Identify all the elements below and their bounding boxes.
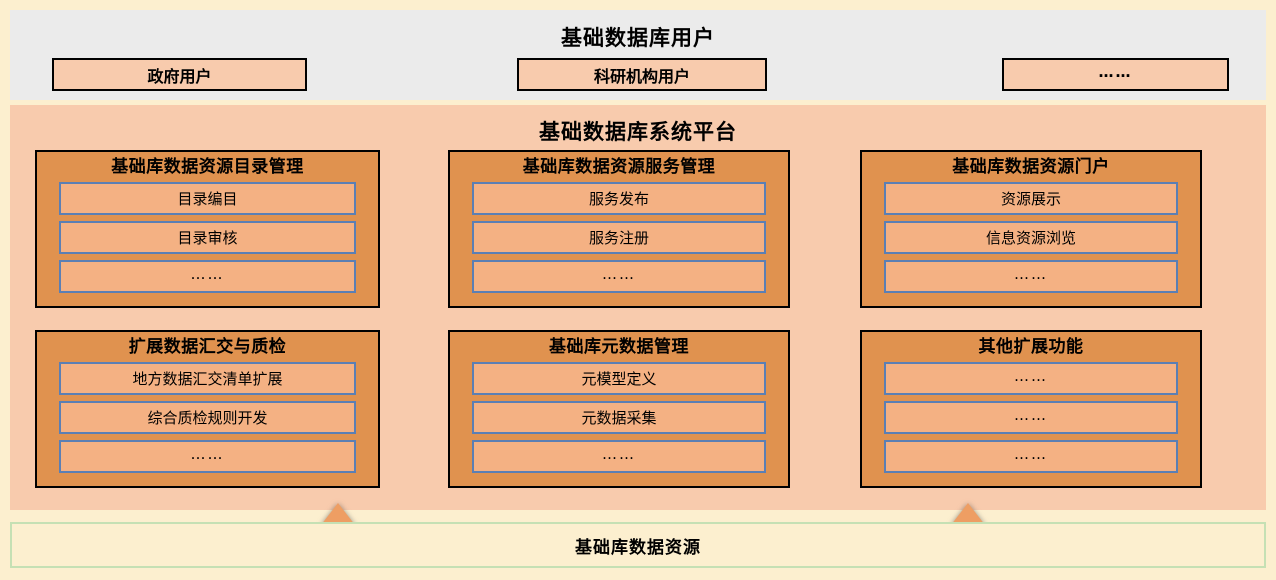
module-item[interactable]: …… (884, 401, 1178, 434)
module-title: 基础库数据资源服务管理 (450, 152, 788, 182)
ellipsis-label: …… (602, 267, 636, 282)
module-item-label: 元模型定义 (581, 368, 656, 389)
platform-layer: 基础数据库系统平台 基础库数据资源目录管理 目录编目 目录审核 …… (10, 105, 1266, 510)
module-item[interactable]: …… (884, 260, 1178, 293)
module-item-list: 目录编目 目录审核 …… (37, 182, 378, 293)
module-item-list: 资源展示 信息资源浏览 …… (862, 182, 1200, 293)
module-item-list: …… …… …… (862, 362, 1200, 473)
module-other-extensions[interactable]: 其他扩展功能 …… …… …… (860, 330, 1202, 488)
module-item[interactable]: 元模型定义 (472, 362, 766, 395)
module-title: 其他扩展功能 (862, 332, 1200, 362)
module-item[interactable]: …… (472, 260, 766, 293)
module-item-list: 元模型定义 元数据采集 …… (450, 362, 788, 473)
module-item-label: 元数据采集 (581, 407, 656, 428)
module-item[interactable]: 信息资源浏览 (884, 221, 1178, 254)
platform-layer-title: 基础数据库系统平台 (10, 116, 1266, 146)
module-title: 扩展数据汇交与质检 (37, 332, 378, 362)
ellipsis-label: …… (1014, 267, 1048, 282)
module-catalog-management[interactable]: 基础库数据资源目录管理 目录编目 目录审核 …… (35, 150, 380, 308)
module-item[interactable]: 地方数据汇交清单扩展 (59, 362, 356, 395)
module-item-label: 资源展示 (1001, 188, 1061, 209)
module-data-submission-quality[interactable]: 扩展数据汇交与质检 地方数据汇交清单扩展 综合质检规则开发 …… (35, 330, 380, 488)
user-box-government[interactable]: 政府用户 (52, 58, 307, 91)
module-item[interactable]: …… (472, 440, 766, 473)
user-box-research-institution[interactable]: 科研机构用户 (517, 58, 767, 91)
ellipsis-label: …… (1014, 369, 1048, 384)
module-item[interactable]: 目录编目 (59, 182, 356, 215)
module-item[interactable]: 服务发布 (472, 182, 766, 215)
module-item-label: 信息资源浏览 (986, 227, 1076, 248)
ellipsis-label: …… (1099, 65, 1133, 80)
module-grid: 基础库数据资源目录管理 目录编目 目录审核 …… 基础库数据资源服务管理 (10, 150, 1266, 510)
module-item[interactable]: 综合质检规则开发 (59, 401, 356, 434)
module-item-list: 服务发布 服务注册 …… (450, 182, 788, 293)
module-resource-portal[interactable]: 基础库数据资源门户 资源展示 信息资源浏览 …… (860, 150, 1202, 308)
users-layer-title: 基础数据库用户 (10, 22, 1266, 52)
module-item-list: 地方数据汇交清单扩展 综合质检规则开发 …… (37, 362, 378, 473)
module-item[interactable]: 资源展示 (884, 182, 1178, 215)
user-box-label: 科研机构用户 (594, 63, 690, 87)
module-service-management[interactable]: 基础库数据资源服务管理 服务发布 服务注册 …… (448, 150, 790, 308)
ellipsis-label: …… (1014, 408, 1048, 423)
module-title: 基础库数据资源门户 (862, 152, 1200, 182)
module-item-label: 综合质检规则开发 (147, 407, 267, 428)
resources-layer: 基础库数据资源 (10, 522, 1266, 568)
module-item[interactable]: …… (884, 440, 1178, 473)
module-item[interactable]: …… (59, 260, 356, 293)
module-item[interactable]: 元数据采集 (472, 401, 766, 434)
module-item-label: 目录编目 (177, 188, 237, 209)
architecture-diagram: 基础数据库用户 政府用户 科研机构用户 …… 基础数据库系统平台 基础库数据资源… (0, 0, 1276, 580)
module-item[interactable]: 目录审核 (59, 221, 356, 254)
module-title: 基础库元数据管理 (450, 332, 788, 362)
ellipsis-label: …… (602, 447, 636, 462)
module-item[interactable]: 服务注册 (472, 221, 766, 254)
module-item[interactable]: …… (884, 362, 1178, 395)
module-item[interactable]: …… (59, 440, 356, 473)
ellipsis-label: …… (191, 447, 225, 462)
resources-layer-title: 基础库数据资源 (575, 533, 701, 558)
module-item-label: 服务发布 (589, 188, 649, 209)
module-item-label: 地方数据汇交清单扩展 (132, 368, 282, 389)
module-metadata-management[interactable]: 基础库元数据管理 元模型定义 元数据采集 …… (448, 330, 790, 488)
users-layer: 基础数据库用户 政府用户 科研机构用户 …… (10, 10, 1266, 100)
module-title: 基础库数据资源目录管理 (37, 152, 378, 182)
user-box-label: 政府用户 (147, 63, 211, 87)
ellipsis-label: …… (191, 267, 225, 282)
ellipsis-label: …… (1014, 447, 1048, 462)
module-item-label: 服务注册 (589, 227, 649, 248)
user-box-others[interactable]: …… (1002, 58, 1229, 91)
module-item-label: 目录审核 (177, 227, 237, 248)
